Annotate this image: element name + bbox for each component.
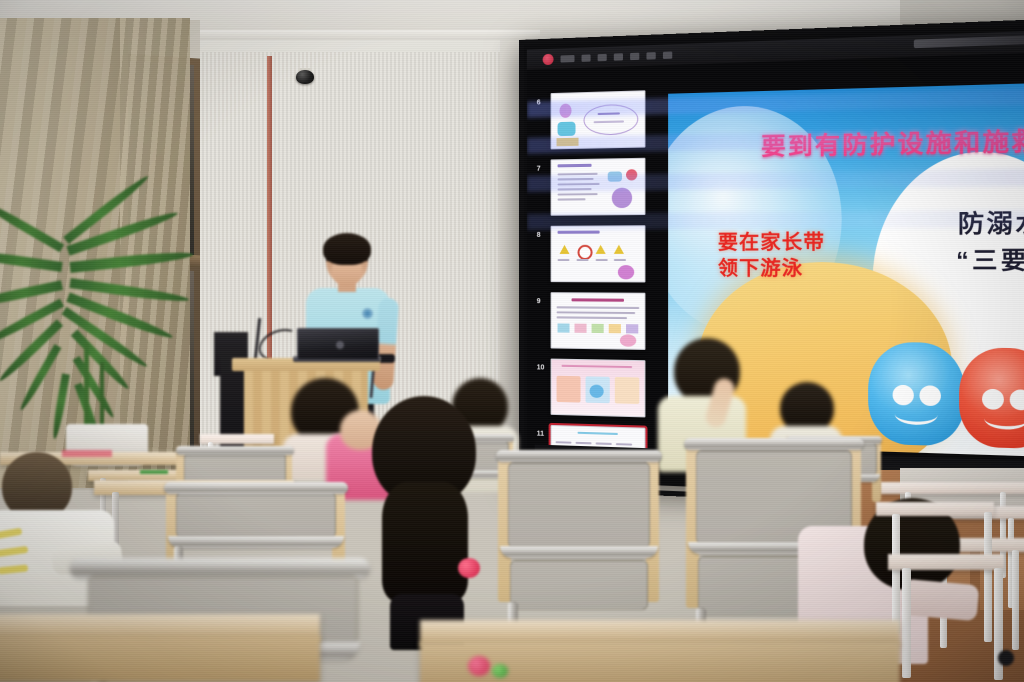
thumbnail-item[interactable]: 10 (551, 359, 654, 418)
shape-icon[interactable] (630, 52, 639, 59)
desk-caster (998, 650, 1014, 666)
classroom-photo: 6 7 (0, 0, 1024, 682)
warning-triangle-icon (614, 245, 624, 254)
present-icon[interactable] (614, 53, 623, 60)
text-icon[interactable] (646, 52, 655, 59)
slide-thumbnail-7[interactable] (551, 158, 646, 216)
red-text-line-2: 领下游泳 (718, 256, 825, 282)
laptop[interactable] (293, 328, 381, 364)
presenter-hair (323, 233, 371, 265)
more-icon[interactable] (663, 51, 672, 59)
laptop-logo-icon (336, 341, 344, 349)
thumbnail-item[interactable]: 8 (551, 225, 654, 282)
powerpoint-logo-icon (543, 54, 554, 65)
slide-title-line-2: “三要” (956, 242, 1024, 277)
desk-leg (1012, 550, 1019, 650)
slide-thumbnail-9[interactable] (551, 292, 646, 350)
child-hair-length (382, 482, 468, 602)
slide-thumbnail-panel[interactable]: 6 7 (551, 90, 654, 457)
red-text-line-1: 要在家长带 (718, 230, 825, 257)
desk-foreground-right-edge (420, 642, 900, 682)
chair-mid-center[interactable] (498, 452, 660, 628)
slide-number: 11 (537, 431, 544, 438)
cornice-trim (180, 30, 540, 40)
redo-icon[interactable] (598, 53, 607, 60)
blue-mascot-icon (868, 342, 965, 447)
hair-accessory-icon (492, 664, 508, 678)
pen (140, 470, 168, 474)
desk-leg (984, 512, 992, 642)
slide-number: 9 (537, 298, 541, 305)
desk-leg (902, 568, 911, 678)
slide-red-text: 要在家长带 领下游泳 (718, 230, 825, 283)
thumbnail-item[interactable]: 6 (551, 90, 654, 149)
hair-accessory-icon (468, 656, 490, 676)
slide-thumbnail-8[interactable] (551, 225, 646, 282)
slide-number: 8 (537, 232, 541, 239)
slide-number: 7 (537, 166, 541, 173)
warning-triangle-icon (560, 245, 570, 254)
slide-title-line-1: 防溺水 (956, 203, 1024, 240)
undo-icon[interactable] (582, 54, 591, 61)
slide-thumbnail-6[interactable] (551, 90, 646, 149)
save-icon[interactable] (561, 55, 575, 63)
warning-triangle-icon (596, 245, 606, 254)
slide-number: 6 (537, 99, 541, 106)
powerpoint-toolbar[interactable] (527, 30, 1024, 70)
child-ponytail-girl (362, 396, 488, 646)
thumbnail-item[interactable]: 9 (551, 292, 654, 350)
no-swimming-icon (578, 245, 593, 260)
hair-tie-icon (458, 558, 480, 578)
desk-leg (892, 514, 900, 634)
thumbnail-item[interactable]: 7 (551, 158, 654, 216)
shirt-logo (362, 308, 373, 319)
slide-thumbnail-10[interactable] (551, 359, 646, 418)
slide-title-block: 防溺水 “三要” (956, 203, 1024, 277)
red-mascot-icon (960, 347, 1024, 449)
desk-foreground-left-edge (0, 636, 320, 682)
dome-security-camera-icon (296, 68, 316, 84)
document-title-bar (914, 33, 1024, 48)
child-arm (901, 579, 980, 621)
slide-number: 10 (537, 364, 545, 371)
